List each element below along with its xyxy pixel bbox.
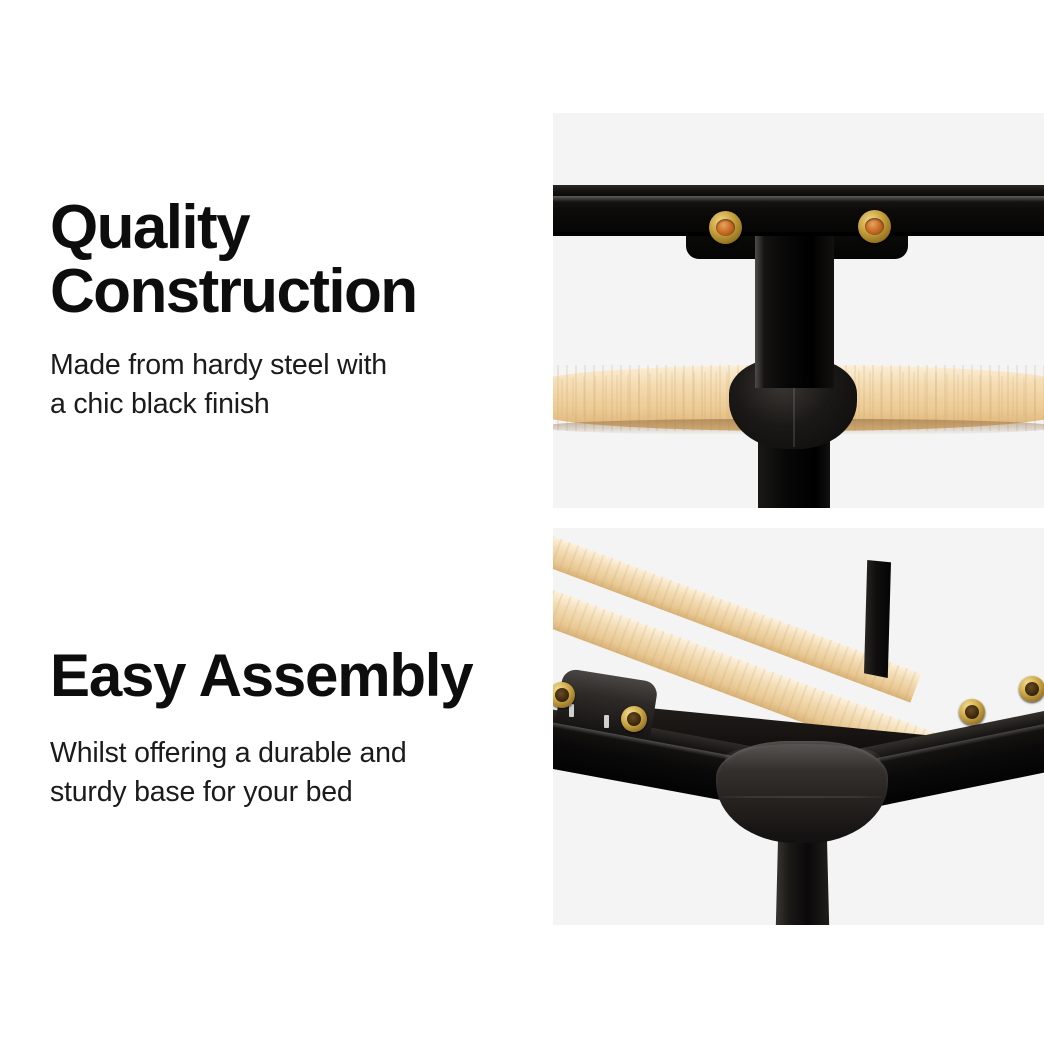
gold-screw-icon [621, 706, 647, 732]
vertical-support-tab [864, 560, 891, 678]
gold-screw-icon [959, 699, 985, 725]
product-photo-bracket-detail [553, 113, 1044, 508]
steel-rail-bottom-edge [553, 232, 1044, 236]
gold-screw-icon [1019, 676, 1044, 702]
slat-holder-slot [569, 704, 574, 717]
feature-block-quality-construction: Quality Construction Made from hardy ste… [50, 196, 520, 424]
feature-subtext: Made from hardy steel with a chic black … [50, 346, 520, 424]
feature-block-easy-assembly: Easy Assembly Whilst offering a durable … [50, 644, 520, 812]
text-column: Quality Construction Made from hardy ste… [0, 0, 553, 1044]
corner-cap-seam [721, 796, 883, 798]
product-feature-panel: Quality Construction Made from hardy ste… [0, 0, 1044, 1044]
slat-holder-slot [604, 715, 609, 728]
product-photo-corner-detail [553, 528, 1044, 925]
steel-rail-gloss [553, 196, 1044, 202]
feature-headline: Easy Assembly [50, 644, 520, 708]
brass-bolt-icon [709, 211, 742, 244]
feature-headline: Quality Construction [50, 196, 520, 324]
brass-bolt-icon [858, 210, 891, 243]
steel-rail-top-face [553, 185, 1044, 196]
feature-subtext: Whilst offering a durable and sturdy bas… [50, 734, 520, 812]
corner-cap-highlight [725, 744, 880, 770]
